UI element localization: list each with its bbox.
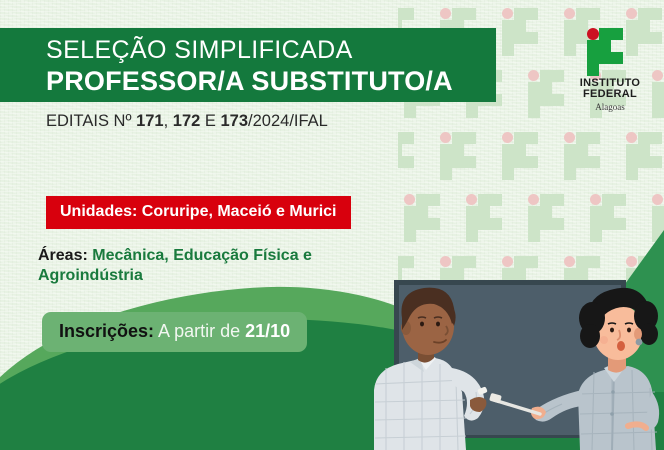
inscricoes-date: 21/10: [245, 321, 290, 341]
page-title-line1: SELEÇÃO SIMPLIFICADA: [46, 36, 353, 65]
inscricoes-badge: Inscrições: A partir de 21/10: [42, 312, 307, 352]
ifal-logo-line3: Alagoas: [566, 102, 654, 112]
if-watermark-icon: [564, 132, 610, 178]
poster-banner: SELEÇÃO SIMPLIFICADA PROFESSOR/A SUBSTIT…: [0, 0, 664, 450]
editais-number-2: 172: [173, 112, 201, 130]
if-watermark-icon: [398, 132, 424, 178]
editais-suffix: /2024/IFAL: [248, 112, 328, 130]
inscricoes-label: Inscrições:: [59, 321, 154, 341]
areas-label: Áreas:: [38, 247, 88, 264]
if-watermark-icon: [528, 194, 574, 240]
if-watermark-icon: [626, 132, 664, 178]
if-watermark-icon: [590, 194, 636, 240]
units-badge: Unidades: Coruripe, Maceió e Murici: [46, 196, 351, 229]
editais-number-3: 173: [221, 112, 249, 130]
teachers-illustration: [366, 272, 664, 450]
editais-separator-1: ,: [164, 112, 173, 130]
editais-prefix: EDITAIS Nº: [46, 112, 136, 130]
if-watermark-icon: [502, 8, 548, 54]
if-watermark-icon: [440, 132, 486, 178]
editais-separator-2: E: [200, 112, 220, 130]
page-title-line2: PROFESSOR/A SUBSTITUTO/A: [46, 66, 453, 97]
editais-number-1: 171: [136, 112, 164, 130]
areas-line: Áreas: Mecânica, Educação Física e Agroi…: [38, 246, 368, 287]
ifal-logo-line2: FEDERAL: [566, 89, 654, 100]
editais-line: EDITAIS Nº 171, 172 E 173/2024/IFAL: [46, 112, 328, 131]
if-watermark-icon: [466, 194, 512, 240]
if-watermark-icon: [404, 194, 450, 240]
ifal-logo: INSTITUTO FEDERAL Alagoas: [566, 28, 654, 112]
inscricoes-middle-text: A partir de: [154, 321, 245, 341]
ifal-logo-mark-icon: [587, 28, 633, 74]
if-watermark-icon: [502, 132, 548, 178]
